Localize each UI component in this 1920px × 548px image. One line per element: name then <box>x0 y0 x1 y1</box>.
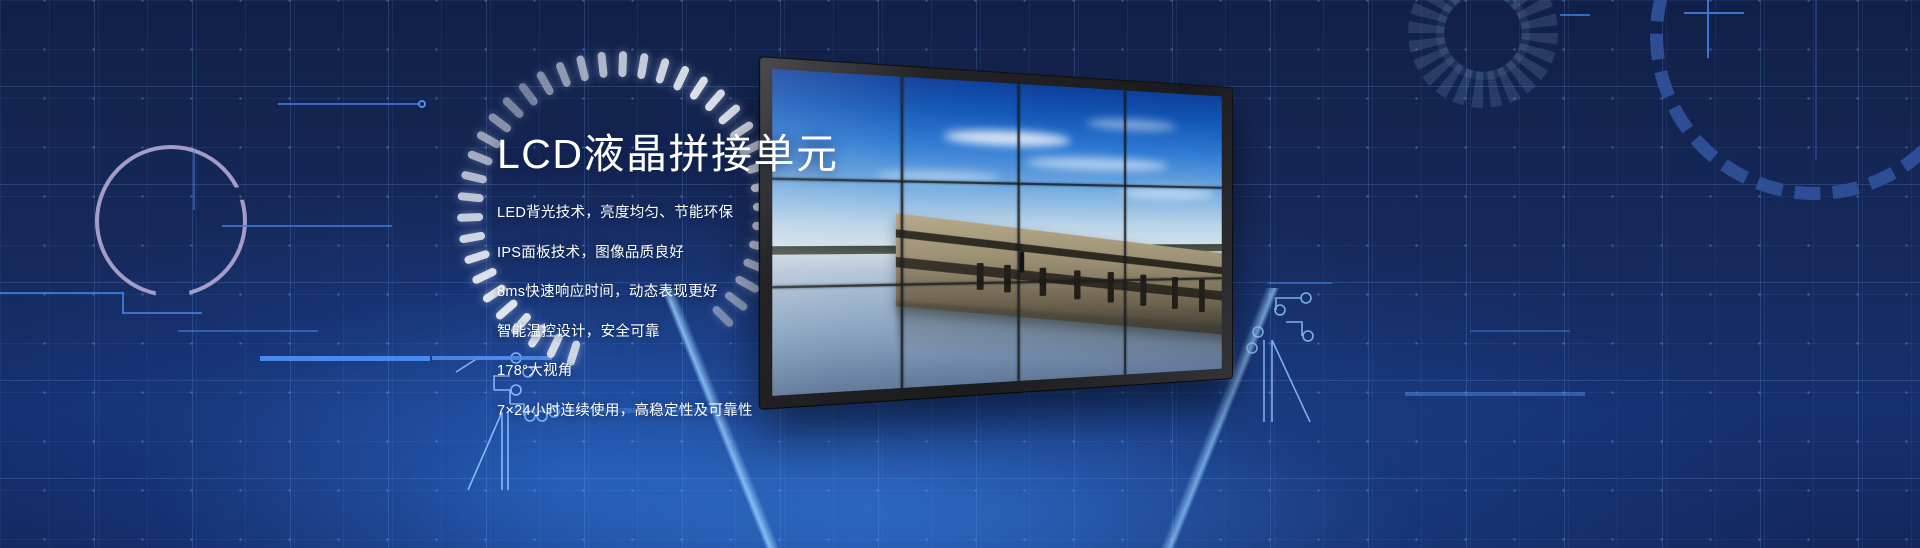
ring-tick <box>535 70 555 97</box>
feature-item: IPS面板技术，图像品质良好 <box>497 246 1117 261</box>
feature-item: 7×24小时连续使用，高稳定性及可靠性 <box>497 404 1117 419</box>
circuit-line <box>178 330 318 332</box>
ring-tick <box>688 75 709 101</box>
feature-item: 智能温控设计，安全可靠 <box>497 325 1117 340</box>
feature-item: LED背光技术，亮度均匀、节能环保 <box>497 206 1117 221</box>
ring-tick <box>457 213 483 222</box>
circuit-node-icon <box>418 100 426 108</box>
ring-tick <box>457 192 484 203</box>
circuit-line <box>122 312 202 314</box>
ring-tick <box>467 150 494 167</box>
feature-item: 8ms快速响应时间，动态表现更好 <box>497 285 1117 300</box>
circuit-trace-icon <box>1246 292 1366 422</box>
dashed-arc-icon <box>1619 0 1920 231</box>
ring-tick <box>471 267 498 285</box>
product-banner: LCD液晶拼接单元 LED背光技术，亮度均匀、节能环保IPS面板技术，图像品质良… <box>0 0 1920 548</box>
ring-tick <box>576 55 590 82</box>
circuit-line <box>1470 330 1570 332</box>
ring-tick <box>655 57 670 84</box>
ring-tick <box>463 249 490 265</box>
ring-tick <box>461 170 488 184</box>
ring-tick <box>703 88 726 113</box>
circuit-line <box>278 103 418 105</box>
scene-post <box>1172 277 1178 309</box>
lavender-circle-icon <box>95 145 247 297</box>
scene-post <box>1140 275 1146 306</box>
gear-ring-icon <box>1408 0 1558 108</box>
ring-tick <box>459 231 486 243</box>
page-title: LCD液晶拼接单元 <box>497 132 1117 177</box>
feature-list: LED背光技术，亮度均匀、节能环保IPS面板技术，图像品质良好8ms快速响应时间… <box>497 206 1117 418</box>
circuit-line <box>222 225 392 227</box>
circuit-line <box>0 292 124 294</box>
ring-tick <box>672 65 690 92</box>
feature-item: 178°大视角 <box>497 364 1117 379</box>
scene-post <box>1199 279 1205 312</box>
scene-cloud <box>1087 117 1176 132</box>
scene-cloud <box>1120 187 1214 200</box>
ring-tick <box>637 53 649 80</box>
ring-tick <box>555 61 572 88</box>
ring-tick <box>517 82 539 108</box>
circuit-line <box>260 356 430 361</box>
circuit-line <box>122 292 124 314</box>
banner-copy: LCD液晶拼接单元 LED背光技术，亮度均匀、节能环保IPS面板技术，图像品质良… <box>497 132 1117 418</box>
circuit-line <box>1560 14 1590 16</box>
circuit-line <box>1268 282 1332 284</box>
ring-tick <box>717 103 742 126</box>
ring-tick <box>501 96 525 120</box>
ring-tick <box>618 51 627 77</box>
circuit-line <box>1405 392 1585 396</box>
ring-tick <box>597 51 608 78</box>
